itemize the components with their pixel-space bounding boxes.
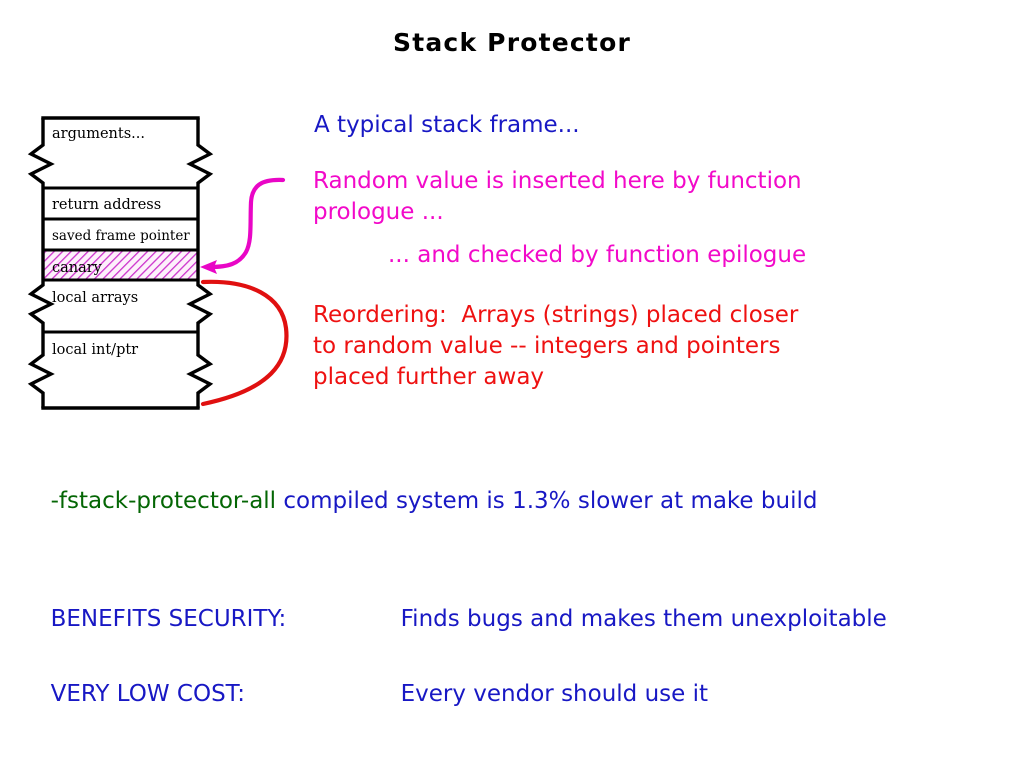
cost-line: VERY LOW COST:Every vendor should use it <box>36 655 708 707</box>
performance-description-text: compiled system is 1.3% slower at make b… <box>276 488 817 514</box>
note-reordering: Reordering: Arrays (strings) placed clos… <box>313 300 923 393</box>
stack-row-label-local-arrays: local arrays <box>52 290 138 306</box>
stack-row-label-saved-frame-pointer: saved frame pointer <box>52 228 190 244</box>
stack-row-label-local-int-ptr: local int/ptr <box>52 342 138 358</box>
benefits-line: BENEFITS SECURITY:Finds bugs and makes t… <box>36 580 887 632</box>
benefits-value: Finds bugs and makes them unexploitable <box>401 606 887 632</box>
stack-frame-diagram: arguments... return address saved frame … <box>18 100 318 425</box>
stack-row-label-return-address: return address <box>52 197 161 213</box>
red-bracket-locals-icon <box>203 282 286 404</box>
page-title: Stack Protector <box>0 28 1024 57</box>
note-typical-stack-frame: A typical stack frame... <box>314 110 580 141</box>
note-random-value-inserted: Random value is inserted here by functio… <box>313 166 913 228</box>
benefits-label: BENEFITS SECURITY: <box>51 606 401 632</box>
stack-row-label-canary: canary <box>52 260 103 276</box>
magenta-arrow-to-canary-icon <box>210 180 283 267</box>
cost-value: Every vendor should use it <box>401 681 708 707</box>
stack-row-label-arguments: arguments... <box>52 126 145 142</box>
performance-line: -fstack-protector-all compiled system is… <box>36 462 817 514</box>
compiler-flag-text: -fstack-protector-all <box>51 488 276 514</box>
cost-label: VERY LOW COST: <box>51 681 401 707</box>
note-checked-by-epilogue: ... and checked by function epilogue <box>388 240 806 271</box>
stack-frame-svg: arguments... return address saved frame … <box>18 100 318 425</box>
